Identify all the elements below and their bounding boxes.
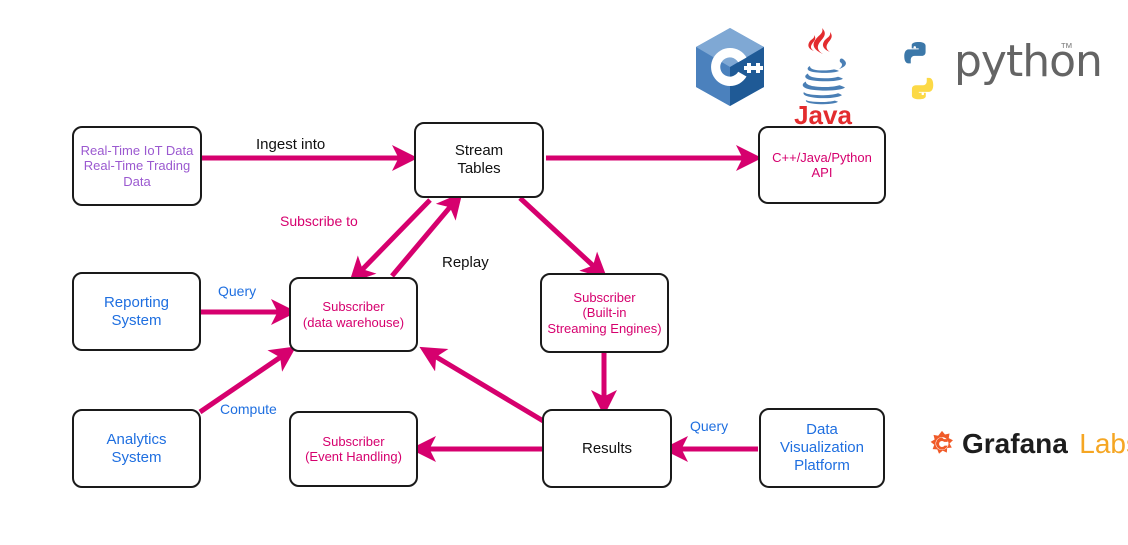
python-logo-label: python [954,36,1102,87]
grafana-wordmark: Grafana [962,428,1068,459]
java-logo: j Java [792,26,854,131]
node-subscriber-data-warehouse[interactable]: Subscriber (data warehouse) [289,277,418,352]
node-cpp-java-python-api[interactable]: C++/Java/Python API [758,126,886,204]
node-subscriber-event-handling[interactable]: Subscriber (Event Handling) [289,411,418,487]
node-results[interactable]: Results [542,409,672,488]
node-label: C++/Java/Python API [768,150,876,181]
arrow-results-to-warehouse [428,352,545,422]
edge-label-subscribe-to: Subscribe to [280,213,358,229]
node-analytics-system[interactable]: Analytics System [72,409,201,488]
node-label: Analytics System [102,431,170,466]
edge-label-replay: Replay [442,254,489,271]
node-label: Real-Time IoT Data Real-Time Trading Dat… [77,143,198,189]
node-subscriber-streaming-engines[interactable]: Subscriber (Built-in Streaming Engines) [540,273,669,353]
grafana-labs-logo: Grafana Labs [928,430,956,458]
node-stream-tables[interactable]: Stream Tables [414,122,544,198]
node-label: Stream Tables [451,142,507,177]
cpp-logo-icon [692,26,768,108]
node-reporting-system[interactable]: Reporting System [72,272,201,351]
node-label: Subscriber (Event Handling) [301,434,406,465]
node-label: Subscriber (data warehouse) [299,299,408,330]
python-logo: python ™ [888,40,950,102]
edge-label-query-dataviz: Query [690,418,728,434]
edge-label-ingest-into: Ingest into [256,136,325,153]
java-logo-icon: j [792,26,854,106]
python-trademark-mark: ™ [1060,40,1073,55]
labs-wordmark: Labs [1079,428,1128,459]
arrow-stream-to-streaming-engines [520,198,600,272]
node-label: Results [578,440,636,458]
node-label: Data Visualization Platform [776,421,868,474]
java-logo-label: Java [792,100,854,131]
node-label: Reporting System [100,294,173,329]
grafana-flame-icon [928,430,956,458]
node-data-visualization-platform[interactable]: Data Visualization Platform [759,408,885,488]
cpp-logo [692,26,768,108]
arrow-subscribe-to [356,200,430,276]
diagram-canvas: Real-Time IoT Data Real-Time Trading Dat… [0,0,1128,545]
python-logo-icon [888,40,950,102]
node-label: Subscriber (Built-in Streaming Engines) [543,290,665,336]
edge-label-compute: Compute [220,401,277,417]
node-real-time-data-source[interactable]: Real-Time IoT Data Real-Time Trading Dat… [72,126,202,206]
edge-label-query-reporting: Query [218,283,256,299]
